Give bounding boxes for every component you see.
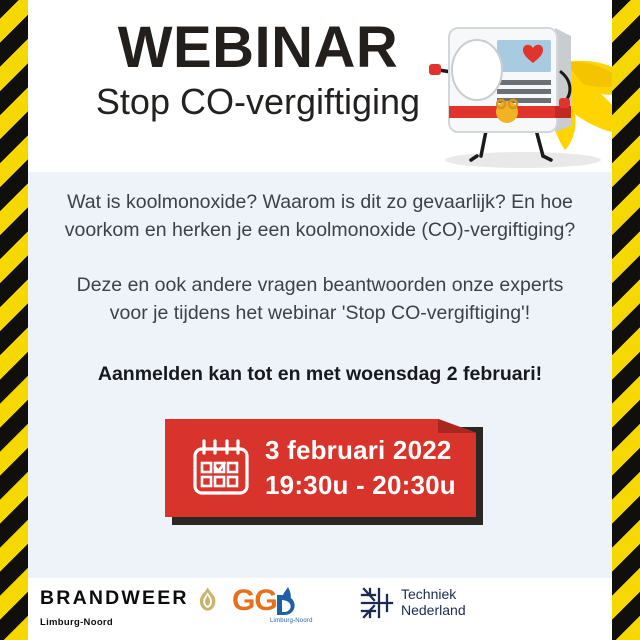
date-time-text: 3 februari 2022 19:30u - 20:30u <box>265 433 456 502</box>
hazard-stripe-left <box>0 0 28 640</box>
logo-brandweer: BRANDWEER Limburg-Noord <box>40 586 220 628</box>
body-text: Wat is koolmonoxide? Waarom is dit zo ge… <box>58 188 582 388</box>
logo-ggd: GG Limburg-Noord <box>232 586 342 624</box>
co-detector-superhero-mascot-icon <box>415 10 640 175</box>
techniek-line-1: Techniek <box>401 587 466 603</box>
poster-body-panel: Wat is koolmonoxide? Waarom is dit zo ge… <box>28 172 612 578</box>
ggd-flame-d-icon <box>274 586 300 616</box>
techniek-nederland-mark-icon <box>360 586 394 620</box>
brandweer-wordmark: BRANDWEER <box>40 589 189 609</box>
hazard-stripe-right <box>612 0 640 640</box>
body-paragraph-2: Deze en ook andere vragen beantwoorden o… <box>58 271 582 328</box>
registration-deadline: Aanmelden kan tot en met woensdag 2 febr… <box>58 360 582 388</box>
ggd-region: Limburg-Noord <box>270 618 342 624</box>
body-paragraph-1: Wat is koolmonoxide? Waarom is dit zo ge… <box>58 188 582 245</box>
calendar-icon <box>191 439 251 497</box>
title-block: WEBINAR Stop CO-vergiftiging <box>78 18 438 122</box>
logo-row: BRANDWEER Limburg-Noord GG <box>34 578 604 640</box>
page-subtitle: Stop CO-vergiftiging <box>78 82 438 122</box>
date-banner: 3 februari 2022 19:30u - 20:30u <box>165 419 476 519</box>
event-time: 19:30u - 20:30u <box>265 468 456 503</box>
webinar-poster: WEBINAR Stop CO-vergiftiging <box>0 0 640 640</box>
brandweer-region: Limburg-Noord <box>40 617 220 628</box>
ggd-wordmark: GG <box>232 586 277 616</box>
brandweer-flame-icon <box>195 586 220 612</box>
techniek-nederland-wordmark: Techniek Nederland <box>401 587 466 618</box>
page-title: WEBINAR <box>78 18 438 78</box>
logo-techniek-nederland: Techniek Nederland <box>360 586 510 620</box>
techniek-line-2: Nederland <box>401 603 466 619</box>
poster-footer: BRANDWEER Limburg-Noord GG <box>28 578 612 640</box>
event-date: 3 februari 2022 <box>265 433 456 468</box>
